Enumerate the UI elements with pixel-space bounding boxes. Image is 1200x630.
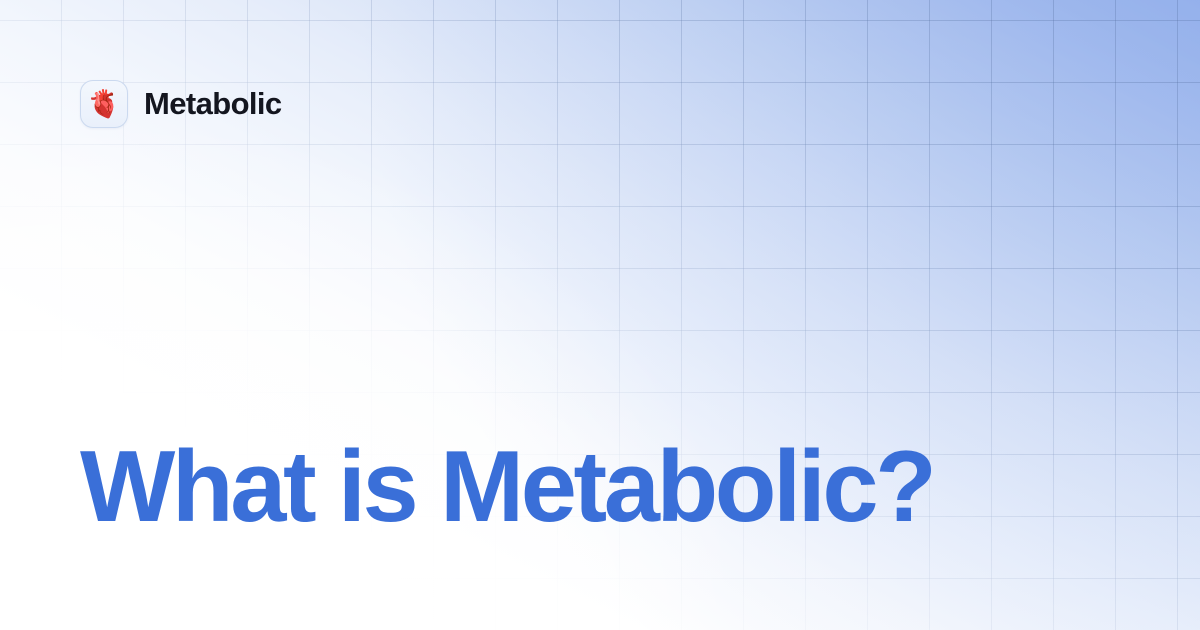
og-card: 🫀 Metabolic What is Metabolic?: [0, 0, 1200, 630]
brand-name: Metabolic: [144, 86, 282, 122]
anatomical-heart-icon: 🫀: [87, 91, 121, 118]
page-title: What is Metabolic?: [80, 434, 1120, 541]
brand-lockup: 🫀 Metabolic: [80, 80, 282, 128]
card-content: 🫀 Metabolic What is Metabolic?: [0, 0, 1200, 630]
brand-logo-badge: 🫀: [80, 80, 128, 128]
